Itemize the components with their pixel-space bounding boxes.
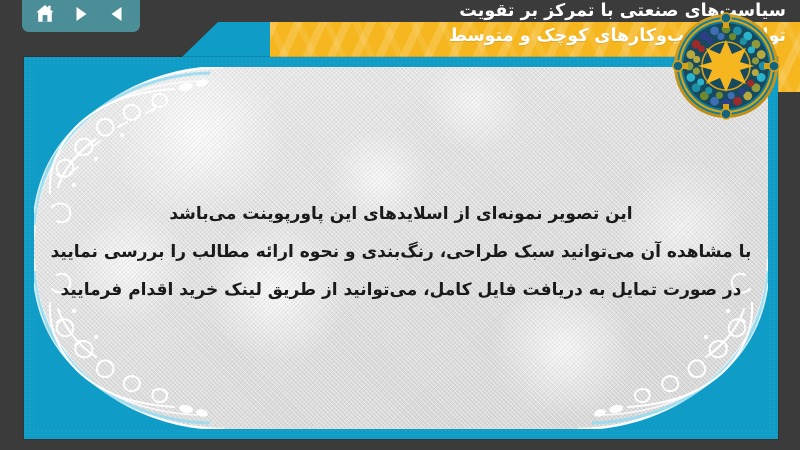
triangle-left-icon: [107, 4, 127, 24]
slide-navigation-bar: [22, 0, 140, 32]
body-line-2: با مشاهده آن می‌توانید سبک طراحی، رنگ‌بن…: [34, 233, 768, 271]
body-line-3: در صورت تمایل به دریافت فایل کامل، می‌تو…: [34, 271, 768, 309]
home-icon: [34, 3, 56, 25]
slide-body-text: این تصویر نمونه‌ای از اسلایدهای این پاور…: [34, 195, 768, 309]
home-button[interactable]: [32, 1, 58, 27]
previous-slide-button[interactable]: [104, 1, 130, 27]
slide-canvas: کامل شناسایی شاخص‌های ارزیابی سیاست‌های …: [0, 0, 800, 450]
ornamental-medallion: [672, 12, 780, 120]
slide-frame: این تصویر نمونه‌ای از اسلایدهای این پاور…: [24, 57, 778, 439]
next-slide-button[interactable]: [68, 1, 94, 27]
body-line-1: این تصویر نمونه‌ای از اسلایدهای این پاور…: [34, 195, 768, 233]
triangle-right-icon: [71, 4, 91, 24]
slide-content-area: این تصویر نمونه‌ای از اسلایدهای این پاور…: [34, 67, 768, 429]
